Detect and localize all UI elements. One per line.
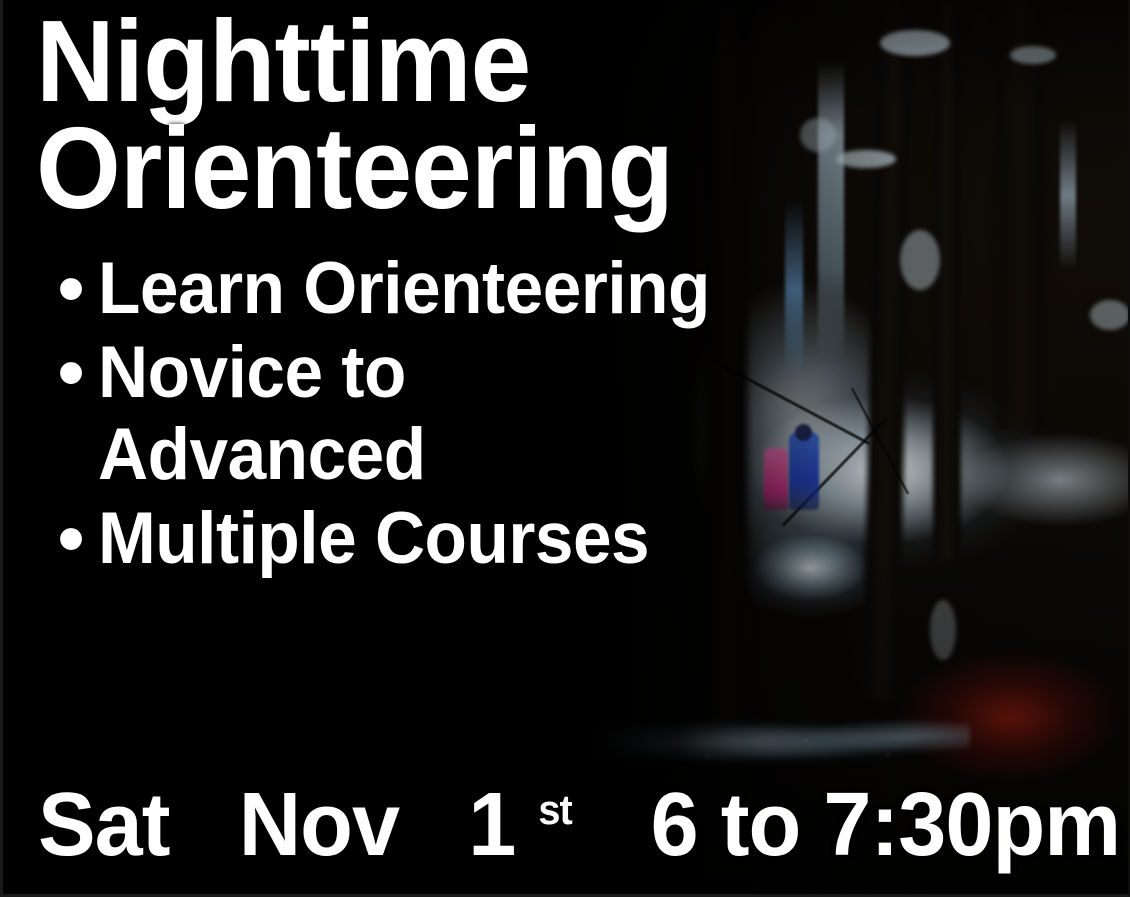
bullet-dot-icon: • bbox=[44, 498, 98, 580]
event-date-number: 1 bbox=[468, 775, 515, 875]
bullet-dot-icon: • bbox=[44, 332, 98, 414]
list-item-label: Novice to Advanced bbox=[98, 332, 426, 496]
page-title: Nighttime Orienteering bbox=[36, 8, 673, 221]
spacer bbox=[422, 775, 445, 875]
event-time: 6 to 7:30pm bbox=[651, 775, 1121, 875]
feature-bullet-list: • Learn Orienteering • Novice to Advance… bbox=[44, 248, 844, 582]
list-item: • Multiple Courses bbox=[44, 498, 844, 580]
bullet-dot-icon: • bbox=[44, 248, 98, 330]
list-item: • Novice to Advanced bbox=[44, 332, 844, 496]
event-date-ordinal-suffix: st bbox=[538, 787, 571, 833]
nighttime-orienteering-poster: Nighttime Orienteering • Learn Orienteer… bbox=[0, 0, 1130, 897]
event-day: Sat bbox=[38, 775, 170, 875]
spacer bbox=[193, 775, 216, 875]
list-item-label: Learn Orienteering bbox=[98, 248, 710, 330]
event-month: Nov bbox=[239, 775, 399, 875]
event-datetime: Sat Nov 1 st 6 to 7:30pm bbox=[38, 779, 1120, 871]
list-item-label: Multiple Courses bbox=[98, 498, 649, 580]
list-item: • Learn Orienteering bbox=[44, 248, 844, 330]
poster-content: Nighttime Orienteering • Learn Orienteer… bbox=[0, 0, 1130, 897]
